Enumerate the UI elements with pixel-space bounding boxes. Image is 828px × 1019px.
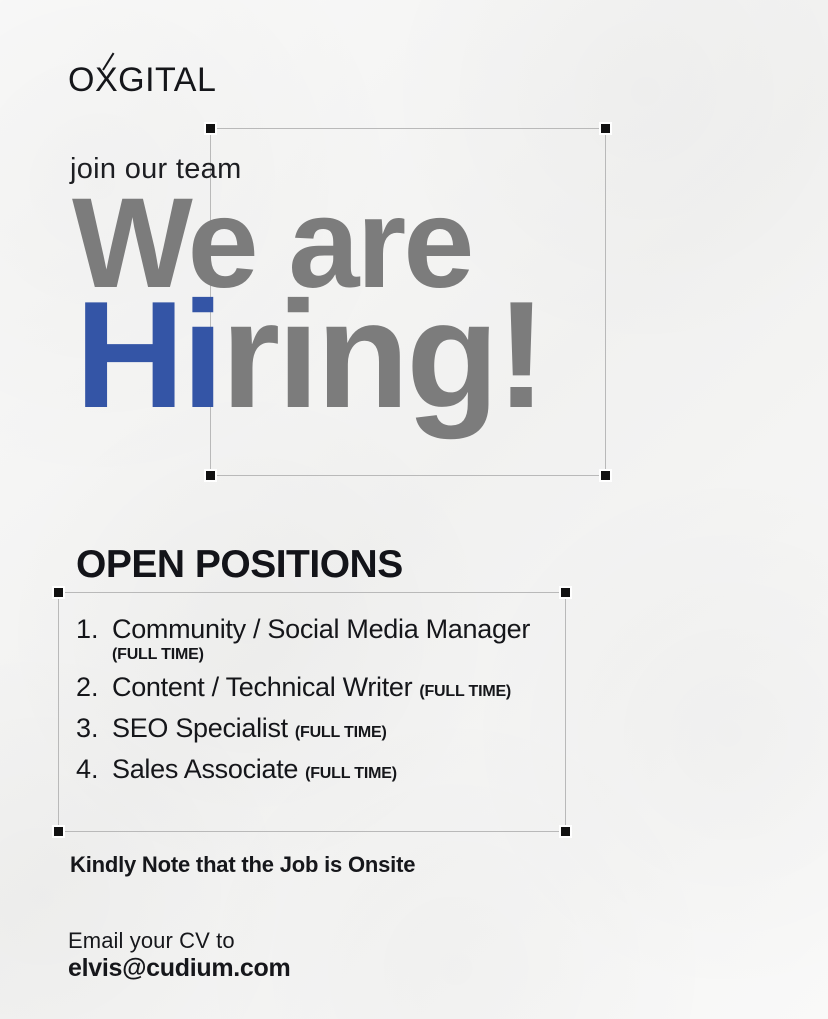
positions-handle-bottom-right[interactable] xyxy=(559,825,572,838)
contact-block: Email your CV to elvis@cudium.com xyxy=(68,928,290,983)
selection-handle-bottom-right[interactable] xyxy=(599,469,612,482)
contact-email-address[interactable]: elvis@cudium.com xyxy=(68,954,290,984)
position-detail: Sales Associate(FULL TIME) xyxy=(112,754,397,785)
position-number: 4. xyxy=(76,754,112,785)
position-employment-type: (FULL TIME) xyxy=(112,646,530,664)
position-title: Content / Technical Writer xyxy=(112,672,412,702)
hero-headline: We are Hiring! xyxy=(72,190,772,419)
position-employment-type: (FULL TIME) xyxy=(419,683,511,700)
position-title: Community / Social Media Manager xyxy=(112,614,530,644)
list-item: 4. Sales Associate(FULL TIME) xyxy=(76,754,596,785)
onsite-note-text: Kindly Note that the Job is Onsite xyxy=(70,852,415,878)
position-employment-type: (FULL TIME) xyxy=(305,765,397,782)
logo-text-part1: O xyxy=(68,63,95,97)
hero-rest-word: ring! xyxy=(221,270,544,440)
logo-x-letter: X xyxy=(95,61,118,99)
contact-cta-text: Email your CV to xyxy=(68,928,290,954)
open-positions-list: 1. Community / Social Media Manager (FUL… xyxy=(76,614,596,785)
hero-line-two: Hiring! xyxy=(75,292,772,420)
positions-handle-top-left[interactable] xyxy=(52,586,65,599)
list-item: 3. SEO Specialist(FULL TIME) xyxy=(76,713,596,744)
position-title: SEO Specialist xyxy=(112,713,288,743)
position-detail: SEO Specialist(FULL TIME) xyxy=(112,713,387,744)
position-number: 1. xyxy=(76,614,112,645)
logo-text-part2: GITAL xyxy=(118,63,216,97)
list-item: 2. Content / Technical Writer(FULL TIME) xyxy=(76,672,596,703)
position-number: 3. xyxy=(76,713,112,744)
logo-x-mark: X xyxy=(95,63,118,97)
selection-handle-top-right[interactable] xyxy=(599,122,612,135)
hiring-poster: OXGITAL join our team We are Hiring! OPE… xyxy=(0,0,828,1019)
brand-logo: OXGITAL xyxy=(68,63,216,97)
position-number: 2. xyxy=(76,672,112,703)
list-item: 1. Community / Social Media Manager (FUL… xyxy=(76,614,596,664)
position-title: Sales Associate xyxy=(112,754,298,784)
hero-accent-word: Hi xyxy=(75,270,221,440)
positions-handle-bottom-left[interactable] xyxy=(52,825,65,838)
open-positions-heading: OPEN POSITIONS xyxy=(76,543,403,587)
positions-handle-top-right[interactable] xyxy=(559,586,572,599)
position-detail: Community / Social Media Manager (FULL T… xyxy=(112,614,530,664)
position-employment-type: (FULL TIME) xyxy=(295,724,387,741)
position-detail: Content / Technical Writer(FULL TIME) xyxy=(112,672,511,703)
